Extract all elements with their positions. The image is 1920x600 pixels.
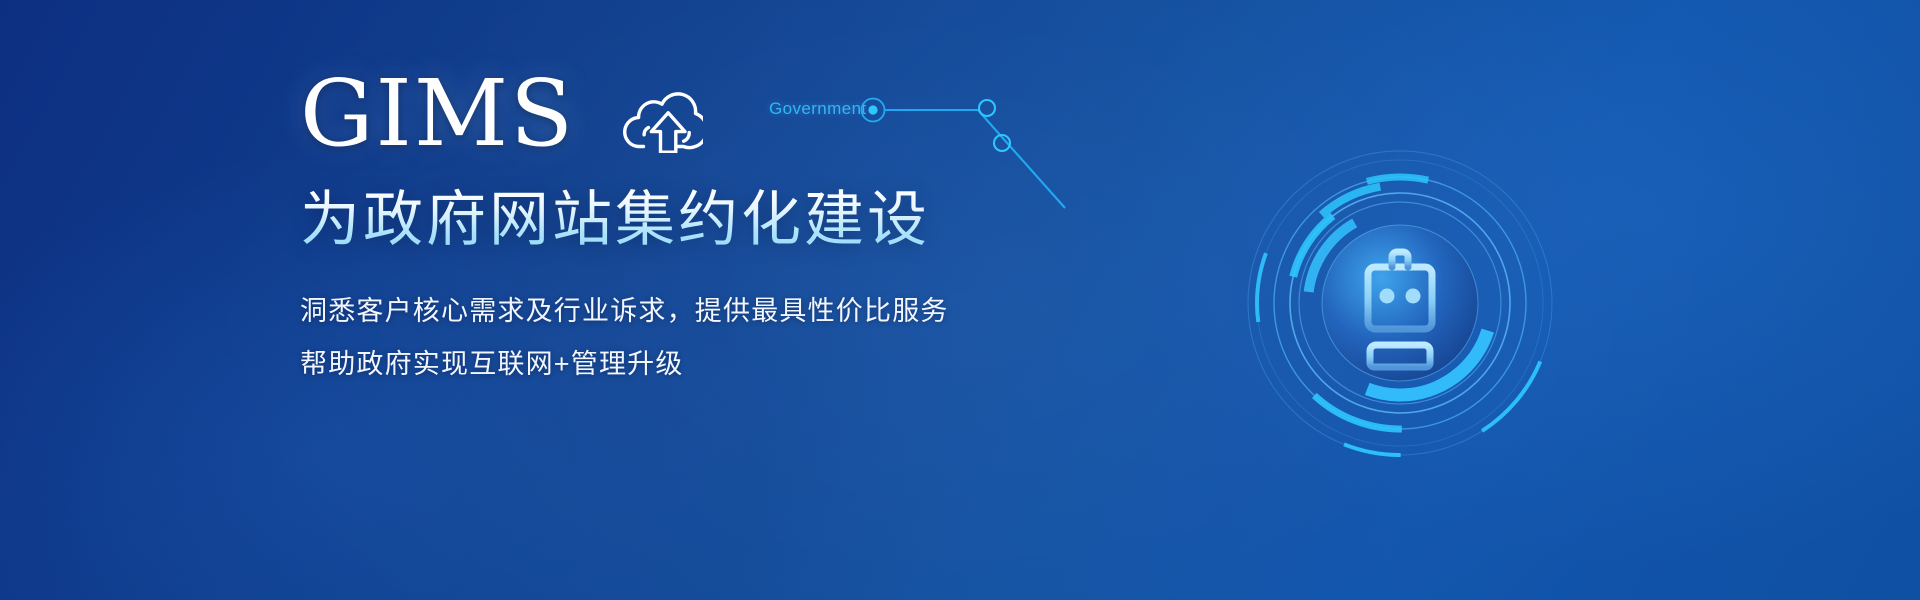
cloud-upload-icon [619,87,703,153]
hud-rings [1248,151,1552,455]
subtitle-line-2: 帮助政府实现互联网+管理升级 [300,346,1000,382]
hero-subtitle: 洞悉客户核心需求及行业诉求，提供最具性价比服务 帮助政府实现互联网+管理升级 [300,293,1000,382]
subtitle-line-1: 洞悉客户核心需求及行业诉求，提供最具性价比服务 [300,293,1000,329]
circuit-connector [850,88,1270,298]
circuit-node-small-1 [979,100,995,116]
brand-title: GIMS [300,68,575,160]
hero-banner: GIMS 为政府网站集约化建设 洞悉客户核心需求及行业诉求，提供最具性价比服务 … [0,0,1920,600]
hud-ring-graphic [1240,143,1560,463]
